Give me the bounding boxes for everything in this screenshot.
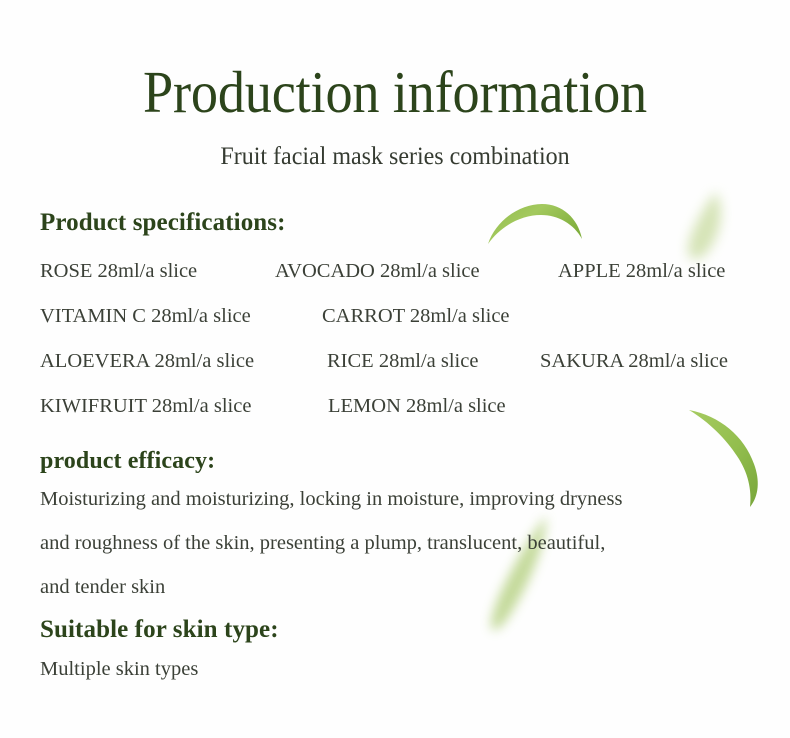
product-information-page: Production information Fruit facial mask… xyxy=(0,0,790,738)
product-efficacy-heading: product efficacy: xyxy=(40,448,215,474)
product-efficacy-text-line: and tender skin xyxy=(40,575,165,599)
specification-row: KIWIFRUIT 28ml/a slice LEMON 28ml/a slic… xyxy=(40,394,770,418)
leaf-crescent-right-icon xyxy=(686,408,764,512)
specification-row: ALOEVERA 28ml/a slice RICE 28ml/a slice … xyxy=(40,349,770,373)
page-title: Production information xyxy=(32,62,759,123)
page-subtitle: Fruit facial mask series combination xyxy=(16,143,774,172)
product-efficacy-text-line: Moisturizing and moisturizing, locking i… xyxy=(40,487,623,511)
product-efficacy-text-line: and roughness of the skin, presenting a … xyxy=(40,531,605,555)
specification-item: VITAMIN C 28ml/a slice xyxy=(40,304,251,328)
specification-item: APPLE 28ml/a slice xyxy=(558,259,725,283)
specification-item: SAKURA 28ml/a slice xyxy=(540,349,728,373)
specification-item: ALOEVERA 28ml/a slice xyxy=(40,349,254,373)
specification-row: ROSE 28ml/a slice AVOCADO 28ml/a slice A… xyxy=(40,259,770,283)
product-specifications-heading: Product specifications: xyxy=(40,209,286,237)
leaf-faded-top-right-icon xyxy=(680,190,738,262)
specification-item: KIWIFRUIT 28ml/a slice xyxy=(40,394,251,418)
specification-item: ROSE 28ml/a slice xyxy=(40,259,197,283)
leaf-arc-top-center-icon xyxy=(486,198,584,248)
specification-row: VITAMIN C 28ml/a slice CARROT 28ml/a sli… xyxy=(40,304,770,328)
specification-item: LEMON 28ml/a slice xyxy=(328,394,506,418)
specification-item: CARROT 28ml/a slice xyxy=(322,304,510,328)
suitable-skin-type-value: Multiple skin types xyxy=(40,657,198,681)
specification-item: AVOCADO 28ml/a slice xyxy=(275,259,480,283)
specification-item: RICE 28ml/a slice xyxy=(327,349,478,373)
suitable-skin-type-heading: Suitable for skin type: xyxy=(40,616,279,644)
